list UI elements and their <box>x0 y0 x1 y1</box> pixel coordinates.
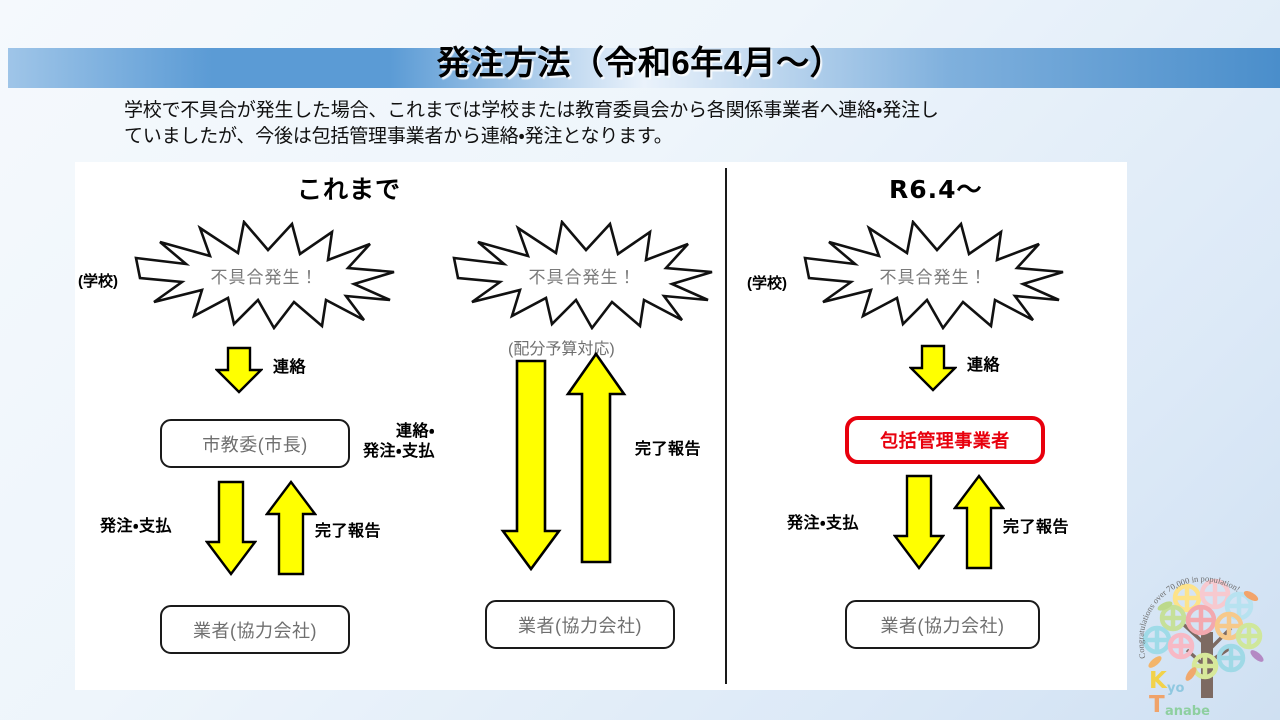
arrow-label-completion-report-direct: 完了報告 <box>635 440 701 460</box>
arrow-down-order-payment-direct <box>500 359 562 571</box>
burst-shape-right: 不具合発生！ <box>801 220 1066 330</box>
page-title: 発注方法（令和6年4月〜） <box>0 36 1280 84</box>
svg-text:yo: yo <box>1167 681 1184 696</box>
arrow-label-renraku-left: 連絡 <box>273 358 306 378</box>
diagram-panel: これまで R6.4〜 (学校) 不具合発生！ 連絡 市教委(市長) 発注・支払 … <box>75 162 1127 690</box>
svg-text:K: K <box>1149 668 1168 694</box>
burst-label-left-b: 不具合発生！ <box>450 220 715 330</box>
burst-label-right: 不具合発生！ <box>801 220 1066 330</box>
school-tag-right: (学校) <box>747 272 787 293</box>
left-panel-heading: これまで <box>297 170 401 206</box>
arrow-up-completion-report-left <box>265 480 317 576</box>
arrow-down-renraku-left <box>215 346 263 394</box>
subtitle-line-1: 学校で不具合が発生した場合、これまでは学校または教育委員会から各関係事業者へ連絡… <box>124 98 1154 124</box>
subtitle-block: 学校で不具合が発生した場合、これまでは学校または教育委員会から各関係事業者へ連絡… <box>124 98 1154 150</box>
arrow-label-renraku-right: 連絡 <box>967 356 1000 376</box>
arrow-down-renraku-right <box>909 344 957 392</box>
arrow-label-completion-report-right: 完了報告 <box>1003 518 1069 538</box>
right-panel-heading: R6.4〜 <box>889 170 983 206</box>
kyotanabe-city-logo: Congratulations over 70,000 in populatio… <box>1135 570 1275 718</box>
arrow-label-direct-line2: 発注・支払 <box>363 442 435 462</box>
node-contractor-left-a: 業者(協力会社) <box>160 605 350 654</box>
burst-shape-left-b: 不具合発生！ <box>450 220 715 330</box>
arrow-down-order-payment-right <box>893 474 945 570</box>
svg-text:T: T <box>1149 692 1165 718</box>
node-contractor-left-b: 業者(協力会社) <box>485 600 675 649</box>
panel-divider <box>725 168 727 684</box>
subtitle-line-2: ていましたが、今後は包括管理事業者から連絡・発注となります。 <box>124 124 1154 150</box>
burst-label-left-a: 不具合発生！ <box>132 220 397 330</box>
svg-text:anabe: anabe <box>1165 704 1210 718</box>
arrow-label-order-payment-left: 発注・支払 <box>100 517 172 537</box>
node-city-board-of-education: 市教委(市長) <box>160 419 350 468</box>
arrow-label-order-payment-direct: 連絡・ 発注・支払 <box>363 422 435 462</box>
arrow-down-order-payment-left <box>205 480 257 576</box>
node-comprehensive-manager: 包括管理事業者 <box>845 416 1045 464</box>
arrow-up-completion-report-right <box>953 474 1005 570</box>
school-tag-left: (学校) <box>78 270 118 291</box>
arrow-label-direct-line1: 連絡・ <box>363 422 435 442</box>
node-contractor-right: 業者(協力会社) <box>845 600 1040 649</box>
arrow-up-completion-report-direct <box>565 352 627 564</box>
burst-shape-left-a: 不具合発生！ <box>132 220 397 330</box>
arrow-label-completion-report-left: 完了報告 <box>315 522 381 542</box>
arrow-label-order-payment-right: 発注・支払 <box>787 514 859 534</box>
